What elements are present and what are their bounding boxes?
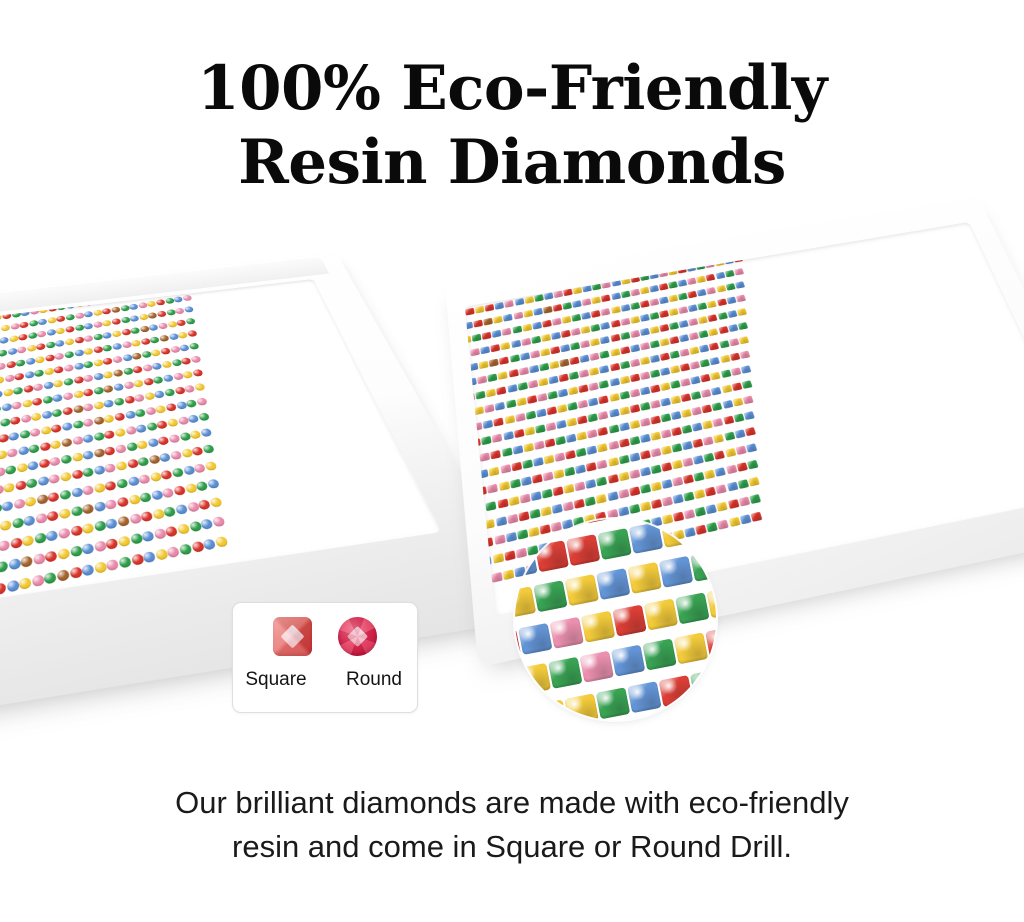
drill-square <box>705 274 715 282</box>
drill-square <box>510 340 520 348</box>
drill-round <box>162 374 174 382</box>
drill-square <box>683 492 695 502</box>
drill-round <box>0 349 7 357</box>
drill-square <box>668 322 678 330</box>
magnified-drill-square <box>565 574 600 606</box>
drill-square <box>681 441 692 450</box>
drill-round <box>25 478 37 489</box>
drill-round <box>136 440 148 450</box>
drill-round <box>114 444 126 454</box>
drill-square <box>585 462 596 472</box>
drill-square <box>727 324 738 332</box>
magnified-drill-square <box>675 592 710 624</box>
drill-round <box>144 406 156 415</box>
drill-square <box>620 277 630 285</box>
drill-round <box>60 438 72 448</box>
drill-round <box>92 372 103 380</box>
drill-square <box>514 298 524 306</box>
magnified-drill-square <box>581 519 616 524</box>
drill-round <box>161 487 174 498</box>
drill-round <box>124 410 136 419</box>
drill-round <box>42 395 53 404</box>
drill-square <box>687 304 697 312</box>
drill-square <box>618 455 629 465</box>
drill-square <box>492 553 504 564</box>
drill-round <box>137 456 150 466</box>
drill-square <box>490 344 500 352</box>
magnified-drill-square <box>581 611 616 643</box>
drill-square <box>620 304 630 312</box>
drill-square <box>496 386 506 395</box>
square-drill-icon <box>273 617 312 656</box>
drill-round <box>92 309 102 316</box>
drill-round <box>211 516 225 528</box>
drill-round <box>112 369 123 377</box>
drill-round <box>193 383 205 392</box>
drill-square <box>639 287 649 295</box>
drill-round <box>93 501 106 512</box>
drill-square <box>531 322 541 330</box>
drill-round <box>20 555 33 568</box>
drill-round <box>93 540 107 552</box>
drill-round <box>74 324 84 331</box>
drill-square <box>688 318 699 326</box>
drill-round <box>34 369 45 377</box>
drill-square <box>581 312 591 320</box>
drill-square <box>495 402 506 411</box>
drill-square <box>698 330 709 338</box>
drill-round <box>191 369 203 377</box>
drill-round <box>12 386 23 395</box>
drill-square <box>703 453 715 463</box>
drill-round <box>178 432 191 442</box>
magnified-drill-square <box>629 522 664 554</box>
drill-round <box>112 355 123 363</box>
drill-square <box>467 578 479 589</box>
drill-round <box>125 442 137 452</box>
drill-round <box>83 322 93 329</box>
drill-round <box>73 349 84 357</box>
drill-square <box>606 509 618 519</box>
drill-round <box>53 365 64 373</box>
drill-square <box>610 293 620 301</box>
drill-round <box>124 426 136 436</box>
drill-square <box>504 415 515 424</box>
drill-square <box>569 357 579 365</box>
drill-round <box>93 432 105 442</box>
drill-square <box>472 422 483 431</box>
drill-square <box>649 326 659 334</box>
caption-line-2: resin and come in Square or Round Drill. <box>0 825 1024 869</box>
drill-round <box>149 471 162 482</box>
drill-square <box>502 569 514 580</box>
drill-square <box>476 486 487 496</box>
drill-square <box>704 487 716 497</box>
drill-round <box>147 454 160 464</box>
drill-square <box>737 322 748 330</box>
drill-square <box>658 283 668 291</box>
product-infographic: 100% Eco-Friendly Resin Diamonds Square … <box>0 0 1024 922</box>
drill-square <box>466 378 476 387</box>
drill-square <box>557 389 568 398</box>
drill-square <box>555 436 566 445</box>
drill-square <box>580 340 590 348</box>
drill-square <box>550 332 560 340</box>
drill-round <box>93 482 106 493</box>
drill-square <box>468 455 479 465</box>
drill-round <box>18 576 31 589</box>
drill-square <box>549 346 559 354</box>
drill-round <box>151 508 165 520</box>
drill-square <box>516 397 527 406</box>
drill-square <box>720 370 731 379</box>
drill-round <box>11 517 23 529</box>
drill-round <box>150 489 163 500</box>
drill-square <box>658 310 668 318</box>
drill-round <box>117 556 131 569</box>
drill-round <box>81 542 94 554</box>
drill-square <box>608 409 619 418</box>
drill-square <box>608 425 619 434</box>
drill-square <box>575 448 586 458</box>
drill-round <box>52 393 63 402</box>
drill-round <box>61 422 73 431</box>
legend-label-square: Square <box>238 669 314 691</box>
drill-round <box>48 473 60 484</box>
drill-square <box>464 580 466 591</box>
drill-round <box>189 355 201 363</box>
drill-square <box>534 424 545 433</box>
drill-square <box>552 486 563 496</box>
drill-square <box>639 372 650 381</box>
drill-square <box>481 436 492 445</box>
drill-square <box>584 496 595 506</box>
drill-square <box>490 572 502 583</box>
drill-round <box>38 458 50 468</box>
drill-square <box>471 334 481 342</box>
drill-square <box>677 293 687 301</box>
drill-square <box>619 332 629 340</box>
drill-square <box>745 443 757 453</box>
drill-square <box>706 287 716 295</box>
drill-round <box>70 487 83 498</box>
drill-square <box>600 322 610 330</box>
drill-square <box>487 373 497 382</box>
drill-round <box>128 513 141 525</box>
drill-square <box>678 306 688 314</box>
drill-round <box>119 305 129 312</box>
magnified-drill-square <box>627 681 662 713</box>
drill-round <box>64 351 75 359</box>
drill-square <box>667 281 677 289</box>
drill-round <box>127 494 140 505</box>
drill-square <box>464 408 473 417</box>
drill-round <box>128 303 138 310</box>
drill-square <box>565 450 576 460</box>
drill-round <box>62 406 73 415</box>
drill-round <box>213 535 228 547</box>
drill-round <box>156 420 168 429</box>
drill-square <box>660 446 671 456</box>
drill-square <box>553 290 563 298</box>
magnified-drill-square <box>674 632 709 664</box>
drill-square <box>503 314 513 322</box>
drill-round <box>82 450 94 460</box>
drill-square <box>677 279 687 287</box>
drill-square <box>617 472 628 482</box>
drill-square <box>670 380 681 389</box>
drill-round <box>70 469 82 480</box>
drill-square <box>493 535 504 546</box>
drill-square <box>650 499 662 509</box>
drill-round <box>146 300 156 307</box>
drill-round <box>93 465 105 475</box>
drill-round <box>37 318 47 325</box>
drill-square <box>668 308 678 316</box>
drill-square <box>582 285 592 293</box>
drill-square <box>691 422 702 431</box>
drill-square <box>691 407 702 416</box>
drill-square <box>572 287 582 295</box>
drill-square <box>519 352 529 360</box>
drill-round <box>47 305 57 312</box>
drill-round <box>62 392 73 401</box>
drill-square <box>686 277 696 285</box>
drill-square <box>478 575 490 586</box>
magnified-drill-square <box>548 657 583 689</box>
drill-round <box>186 330 197 338</box>
drill-square <box>514 413 525 422</box>
magnified-drill-square <box>596 568 631 600</box>
drill-round <box>0 390 2 399</box>
drill-round <box>104 463 116 473</box>
drill-square <box>563 484 574 494</box>
drill-square <box>692 455 704 465</box>
drill-square <box>689 361 700 370</box>
drill-round <box>0 336 8 344</box>
drill-round <box>141 364 152 372</box>
drill-square <box>562 302 572 310</box>
drill-square <box>733 268 743 276</box>
drill-square <box>561 316 571 324</box>
drill-square <box>736 462 748 472</box>
drill-square <box>556 420 567 429</box>
drill-square <box>547 391 558 400</box>
drill-round <box>69 545 82 558</box>
drill-square <box>501 448 512 458</box>
drill-round <box>83 374 94 382</box>
drill-square <box>661 496 673 506</box>
drill-round <box>0 467 5 477</box>
drill-round <box>92 401 103 410</box>
drill-square <box>487 484 498 494</box>
drill-square <box>739 351 750 359</box>
drill-round <box>188 520 202 532</box>
drill-square <box>609 378 620 387</box>
drill-square <box>649 285 659 293</box>
drill-round <box>81 522 94 534</box>
drill-round <box>147 312 158 319</box>
drill-square <box>479 452 490 462</box>
caption: Our brilliant diamonds are made with eco… <box>0 781 1024 869</box>
magnified-drill-square <box>659 675 694 707</box>
drill-square <box>517 382 527 391</box>
drill-square <box>710 372 721 381</box>
drill-round <box>169 450 182 460</box>
drill-square <box>747 477 759 487</box>
drill-round <box>27 460 39 470</box>
drill-square <box>590 310 600 318</box>
drill-square <box>733 413 744 422</box>
drill-square <box>708 328 719 336</box>
drill-round <box>5 579 18 592</box>
drill-square <box>475 391 485 400</box>
drill-round <box>24 496 36 507</box>
drill-square <box>485 501 496 511</box>
drill-square <box>669 365 680 374</box>
drill-square <box>628 469 639 479</box>
drill-round <box>45 341 55 349</box>
drill-round <box>57 547 70 560</box>
drill-round <box>64 325 74 332</box>
drill-square <box>473 320 483 328</box>
drill-square <box>464 542 470 553</box>
drill-square <box>578 369 589 378</box>
drill-square <box>554 452 565 462</box>
drill-square <box>740 365 751 374</box>
drill-square <box>599 350 609 358</box>
drill-square <box>493 316 503 324</box>
drill-round <box>206 478 220 489</box>
drill-round <box>9 416 20 425</box>
drill-round <box>8 431 19 441</box>
drill-round <box>103 414 115 423</box>
drill-square <box>570 342 580 350</box>
drill-round <box>171 467 184 478</box>
drill-round <box>83 311 93 318</box>
drill-square <box>552 304 562 312</box>
caption-line-1: Our brilliant diamonds are made with eco… <box>175 785 849 820</box>
drill-square <box>465 489 476 499</box>
drill-square <box>717 519 729 529</box>
drill-round <box>175 401 187 410</box>
drill-round <box>4 465 16 475</box>
drill-square <box>743 411 754 420</box>
drill-square <box>669 336 680 344</box>
drill-square <box>484 304 494 312</box>
drill-round <box>47 317 57 324</box>
magnified-drill-square <box>535 540 570 572</box>
drill-square <box>546 406 557 415</box>
drill-round <box>63 377 74 385</box>
drill-square <box>464 506 474 516</box>
drill-square <box>492 434 503 443</box>
drill-round <box>16 462 28 472</box>
drill-round <box>133 393 145 402</box>
drill-square <box>519 494 530 504</box>
drill-square <box>532 308 542 316</box>
drill-square <box>508 496 519 506</box>
magnified-drill-square <box>627 562 662 594</box>
drill-square <box>628 436 639 445</box>
drill-shape-legend[interactable]: Square Round <box>232 602 418 713</box>
drill-square <box>591 283 601 291</box>
drill-round <box>46 329 56 336</box>
drill-round <box>13 498 25 509</box>
drill-square <box>588 382 599 391</box>
drill-round <box>31 574 44 587</box>
drill-square <box>725 297 735 305</box>
drill-round <box>105 558 119 571</box>
drill-square <box>671 443 682 453</box>
drill-round <box>199 428 212 438</box>
drill-square <box>598 380 609 389</box>
drill-square <box>738 497 750 507</box>
headline-line-2: Resin Diamonds <box>0 126 1024 200</box>
drill-round <box>54 352 64 360</box>
drill-square <box>509 479 520 489</box>
drill-round <box>82 418 94 427</box>
drill-square <box>542 472 553 482</box>
drill-square <box>609 363 620 372</box>
drill-square <box>541 489 552 499</box>
drill-square <box>596 460 607 470</box>
drill-square <box>690 391 701 400</box>
drill-square <box>629 344 640 352</box>
drill-round <box>29 308 39 315</box>
drill-square <box>530 336 540 344</box>
drill-square <box>639 501 651 511</box>
drill-square <box>597 443 608 453</box>
magnified-drill-square <box>690 669 716 701</box>
drill-round <box>120 328 131 335</box>
drill-square <box>732 398 743 407</box>
drill-square <box>682 457 694 467</box>
drill-square <box>576 431 587 440</box>
drill-round <box>114 428 126 438</box>
drill-round <box>102 344 113 352</box>
drill-square <box>681 425 692 434</box>
drill-round <box>43 381 54 390</box>
drill-square <box>629 275 639 283</box>
drill-round <box>101 319 111 326</box>
drill-round <box>197 412 209 421</box>
drill-round <box>166 418 178 427</box>
drill-square <box>567 402 578 411</box>
drill-square <box>661 479 673 489</box>
drill-square <box>723 257 733 264</box>
drill-square <box>639 467 650 477</box>
drill-square <box>658 270 668 278</box>
drill-round <box>72 420 84 429</box>
drill-square <box>589 367 600 376</box>
drill-square <box>464 350 469 358</box>
drill-round <box>132 365 143 373</box>
drill-square <box>629 404 640 413</box>
drill-square <box>595 494 606 504</box>
drill-round <box>26 344 36 352</box>
drill-square <box>629 289 639 297</box>
magnified-drill-square <box>518 519 553 536</box>
drill-square <box>590 324 600 332</box>
drill-square <box>481 332 491 340</box>
drill-square <box>724 270 734 278</box>
drill-square <box>711 402 722 411</box>
drill-round <box>0 519 11 531</box>
drill-square <box>590 338 600 346</box>
drill-round <box>105 537 119 549</box>
drill-round <box>7 558 20 571</box>
